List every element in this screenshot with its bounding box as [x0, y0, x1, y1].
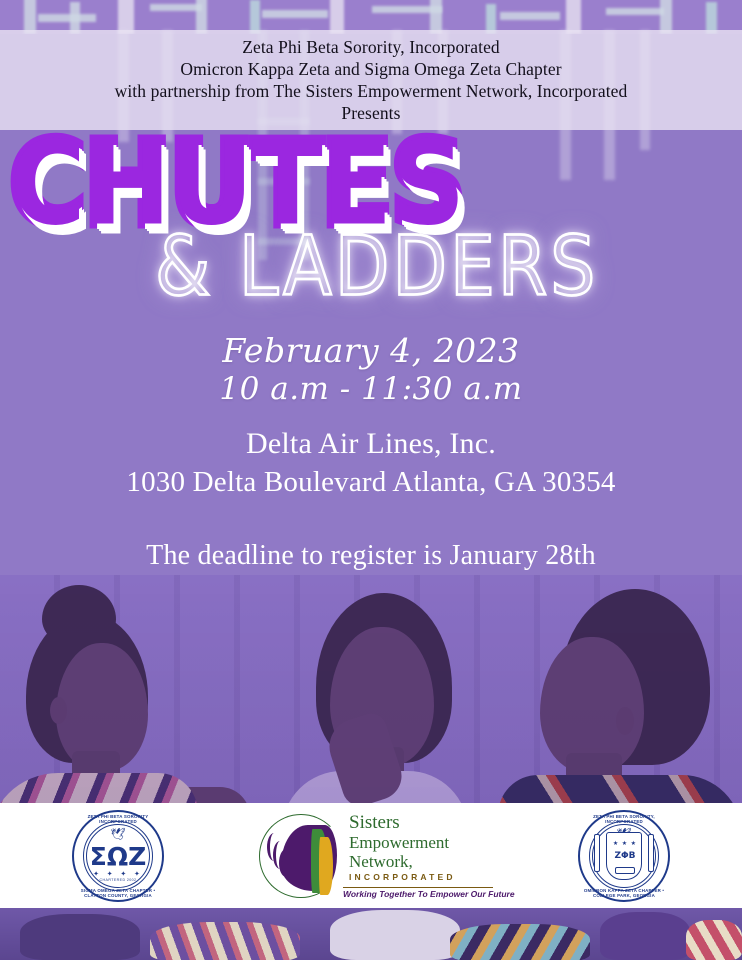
bottom-photo-strip: [0, 908, 742, 960]
header-line-1: Zeta Phi Beta Sorority, Incorporated: [242, 37, 500, 58]
torch-icon-right: [648, 834, 654, 872]
omicron-kappa-zeta-seal: ZETA PHI BETA SORORITY, INCORPORATED 🕊 ★…: [578, 810, 670, 902]
sigma-omega-zeta-seal: ZETA PHI BETA SORORITY INCORPORATED 🕊 ΣΩ…: [72, 810, 164, 902]
header-line-3: with partnership from The Sisters Empowe…: [115, 81, 628, 102]
event-address: 1030 Delta Boulevard Atlanta, GA 30354: [0, 463, 742, 501]
shield-base-emblem: [615, 867, 635, 874]
logo-wordmark: Sisters Empowerment Network, INCORPORATE…: [349, 813, 485, 883]
shield-greek-letters: ΖΦΒ: [607, 851, 643, 861]
seal-arc-top-text: ZETA PHI BETA SORORITY INCORPORATED: [72, 814, 164, 824]
seal-arc-bottom-text: SIGMA OMEGA ZETA CHAPTER • CLAYTON COUNT…: [72, 888, 164, 898]
hair-wave-icon-3: [279, 849, 293, 877]
event-time: 10 a.m - 11:30 a.m: [0, 370, 742, 408]
seal2-arc-bottom-text: OMICRON KAPPA ZETA CHAPTER • COLLEGE PAR…: [578, 888, 670, 898]
logo-line-4: INCORPORATED: [349, 871, 485, 883]
registration-deadline: The deadline to register is January 28th: [0, 539, 742, 573]
logo-line-2: Empowerment: [349, 833, 485, 852]
logo-line-1: Sisters: [349, 813, 485, 833]
shield-icon: ★ ★ ★ ΖΦΒ: [606, 832, 642, 880]
title-main: CHUTES: [10, 127, 570, 242]
profile-gold-edge: [319, 837, 333, 895]
seal-star-dots: ✦ ✦ ✦ ✦: [72, 870, 164, 878]
seal-charter-text: CHARTERED 2002: [72, 878, 164, 882]
event-flyer: Zeta Phi Beta Sorority, Incorporated Omi…: [0, 0, 742, 960]
event-venue: Delta Air Lines, Inc.: [0, 425, 742, 463]
logo-band: ZETA PHI BETA SORORITY INCORPORATED 🕊 ΣΩ…: [0, 803, 742, 908]
event-details: February 4, 2023 10 a.m - 11:30 a.m Delt…: [0, 332, 742, 573]
header-line-2: Omicron Kappa Zeta and Sigma Omega Zeta …: [180, 59, 561, 80]
seal-greek-letters: ΣΩΖ: [72, 844, 164, 869]
shield-stars: ★ ★ ★: [607, 840, 643, 847]
dove-icon: 🕊: [108, 828, 128, 842]
sisters-empowerment-network-logo: Sisters Empowerment Network, INCORPORATE…: [257, 811, 485, 901]
seal2-arc-top-text: ZETA PHI BETA SORORITY, INCORPORATED: [578, 814, 670, 824]
event-date: February 4, 2023: [0, 332, 742, 370]
header-text-block: Zeta Phi Beta Sorority, Incorporated Omi…: [0, 30, 742, 130]
torch-icon-left: [594, 834, 600, 872]
logo-tagline: Working Together To Empower Our Future: [343, 887, 493, 899]
logo-line-3: Network,: [349, 852, 485, 871]
